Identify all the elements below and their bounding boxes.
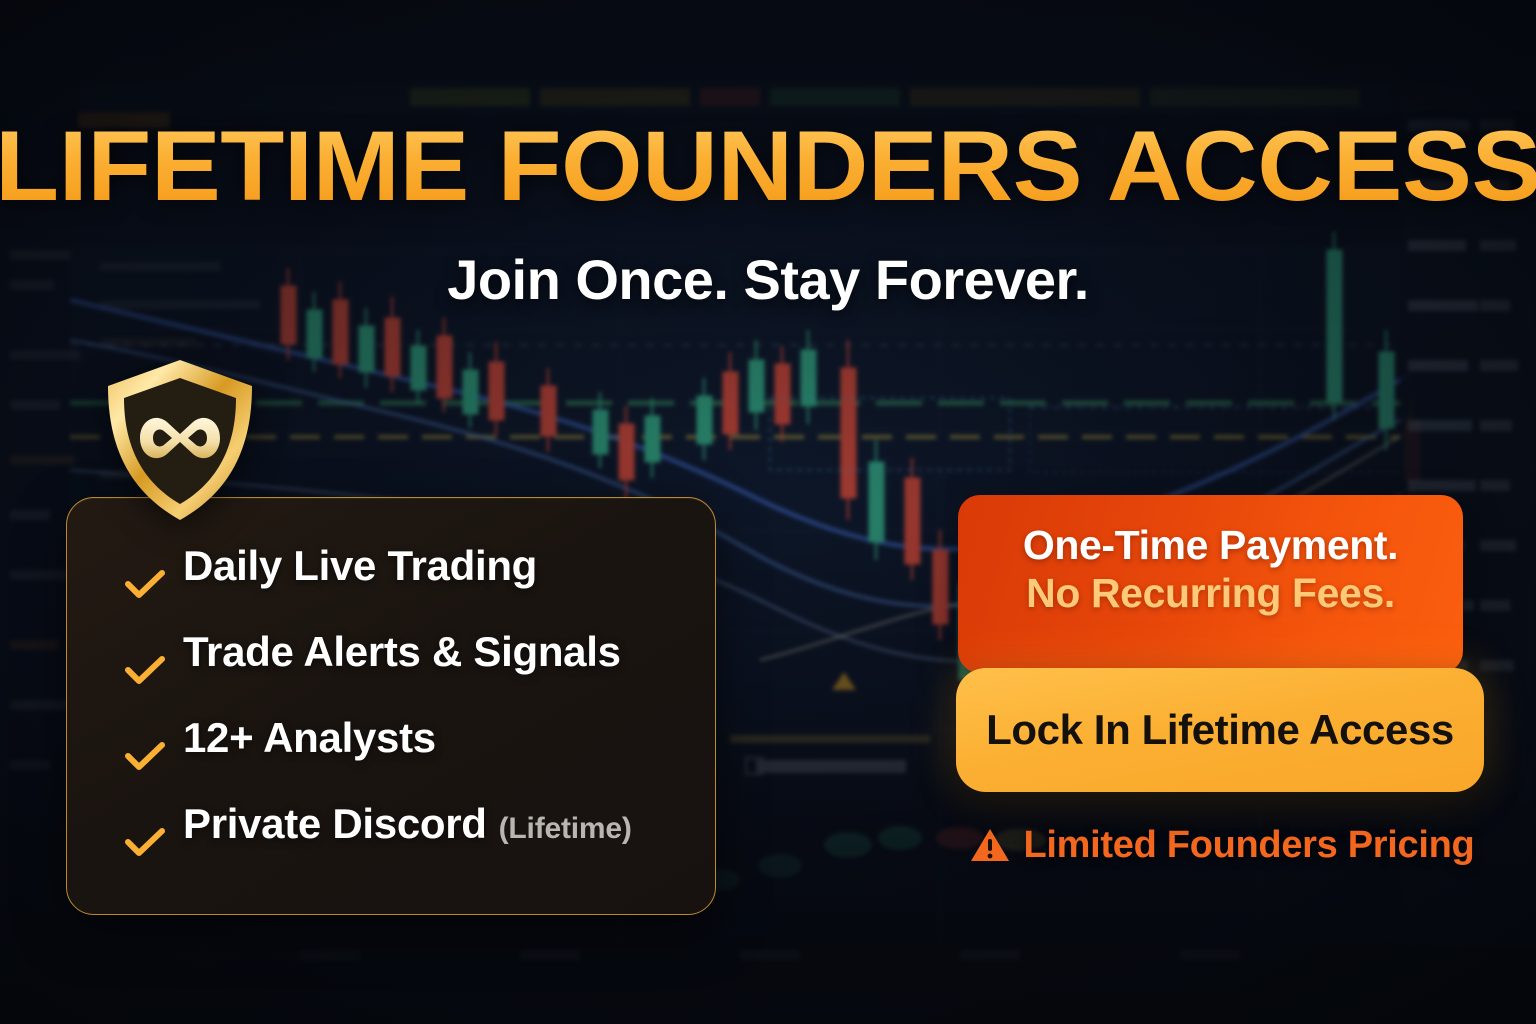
check-icon: [125, 742, 169, 772]
limited-pricing-notice: Limited Founders Pricing: [958, 818, 1486, 872]
list-item: 12+ Analysts: [125, 714, 715, 800]
shield-infinity-icon: [92, 352, 268, 528]
list-item: Private Discord (Lifetime): [125, 800, 715, 886]
warning-triangle-icon: [970, 827, 1010, 863]
check-icon: [125, 828, 169, 858]
check-icon: [125, 570, 169, 600]
check-icon: [125, 656, 169, 686]
warning-text: Limited Founders Pricing: [1024, 824, 1475, 867]
promo-subheadline: No Recurring Fees.: [958, 569, 1463, 617]
lock-in-lifetime-access-button[interactable]: Lock In Lifetime Access: [956, 668, 1484, 792]
features-card: Daily Live Trading Trade Alerts & Signal…: [66, 497, 716, 915]
page-subtitle: Join Once. Stay Forever.: [0, 247, 1536, 312]
feature-label: Daily Live Trading: [183, 542, 537, 590]
page-title: LIFETIME FOUNDERS ACCESS: [0, 116, 1536, 215]
list-item: Daily Live Trading: [125, 542, 715, 628]
feature-label: Private Discord: [183, 800, 487, 848]
list-item: Trade Alerts & Signals: [125, 628, 715, 714]
feature-label: Trade Alerts & Signals: [183, 628, 621, 676]
feature-note: (Lifetime): [499, 812, 632, 846]
promo-banner: LIFETIME FOUNDERS ACCESS Join Once. Stay…: [0, 0, 1536, 1024]
promo-panel: One-Time Payment. No Recurring Fees.: [958, 495, 1463, 673]
promo-headline: One-Time Payment.: [958, 521, 1463, 569]
feature-label: 12+ Analysts: [183, 714, 436, 762]
